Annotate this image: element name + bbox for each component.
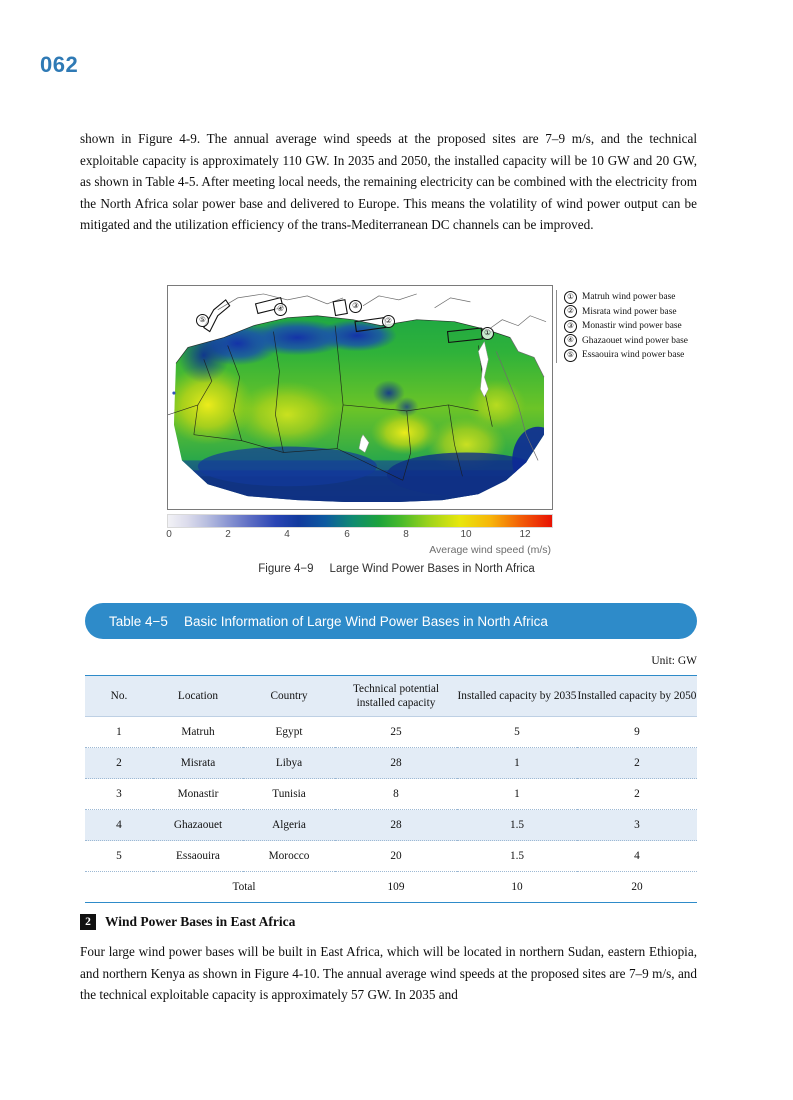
column-header-location: Location (153, 676, 243, 717)
legend-label: Ghazaouet wind power base (582, 334, 688, 349)
figure-legend: ① Matruh wind power base ② Misrata wind … (556, 290, 744, 363)
figure-caption-number: Figure 4−9 (258, 563, 313, 575)
body-paragraph-top: shown in Figure 4-9. The annual average … (80, 128, 697, 236)
table-total-row: Total 109 10 20 (85, 872, 697, 903)
legend-label: Matruh wind power base (582, 290, 675, 305)
cell-2035: 1 (457, 779, 577, 810)
map-callout-matruh: ① (481, 327, 494, 340)
figure-4-9: ① ② ③ ④ ⑤ 0 2 4 6 8 10 (167, 285, 553, 556)
circled-number-1-icon: ① (564, 291, 577, 304)
legend-item-essaouira: ⑤ Essaouira wind power base (564, 348, 744, 363)
cell-2035: 1 (457, 748, 577, 779)
cell-potential: 8 (335, 779, 457, 810)
colorbar-ticks: 0 2 4 6 8 10 12 (167, 528, 553, 544)
circled-number-2-icon: ② (564, 305, 577, 318)
cell-location: Monastir (153, 779, 243, 810)
legend-label: Misrata wind power base (582, 305, 677, 320)
column-header-potential: Technical potential installed capacity (335, 676, 457, 717)
cell-country: Morocco (243, 841, 335, 872)
table-row: 5 Essaouira Morocco 20 1.5 4 (85, 841, 697, 872)
circled-number-3-icon: ③ (564, 320, 577, 333)
wind-power-bases-table: No. Location Country Technical potential… (85, 675, 697, 903)
legend-item-misrata: ② Misrata wind power base (564, 305, 744, 320)
table-unit-note: Unit: GW (85, 655, 697, 667)
figure-caption-title: Large Wind Power Bases in North Africa (330, 563, 535, 575)
cell-2050: 9 (577, 717, 697, 748)
table-body: 1 Matruh Egypt 25 5 9 2 Misrata Libya 28… (85, 717, 697, 903)
colorbar: 0 2 4 6 8 10 12 Average wind speed (m/s) (167, 514, 553, 556)
colorbar-tick-2: 2 (225, 529, 231, 540)
table-row: 2 Misrata Libya 28 1 2 (85, 748, 697, 779)
table-row: 4 Ghazaouet Algeria 28 1.5 3 (85, 810, 697, 841)
map-callout-misrata: ② (382, 315, 395, 328)
legend-item-matruh: ① Matruh wind power base (564, 290, 744, 305)
section-heading: 2 Wind Power Bases in East Africa (80, 914, 295, 930)
body-paragraph-bottom: Four large wind power bases will be buil… (80, 941, 697, 1006)
cell-2050: 4 (577, 841, 697, 872)
document-page: 062 shown in Figure 4-9. The annual aver… (0, 0, 793, 1100)
section-number-badge: 2 (80, 914, 96, 930)
cell-location: Ghazaouet (153, 810, 243, 841)
circled-number-5-icon: ⑤ (564, 349, 577, 362)
cell-location: Essaouira (153, 841, 243, 872)
cell-no: 5 (85, 841, 153, 872)
cell-no: 3 (85, 779, 153, 810)
colorbar-tick-12: 12 (519, 529, 530, 540)
cell-2050: 3 (577, 810, 697, 841)
colorbar-tick-0: 0 (166, 529, 172, 540)
cell-country: Tunisia (243, 779, 335, 810)
table-row: 1 Matruh Egypt 25 5 9 (85, 717, 697, 748)
cell-total-spacer (85, 872, 153, 903)
map-callout-ghazaouet: ④ (274, 303, 287, 316)
colorbar-tick-8: 8 (403, 529, 409, 540)
cell-country: Libya (243, 748, 335, 779)
cell-potential: 28 (335, 810, 457, 841)
legend-item-ghazaouet: ④ Ghazaouet wind power base (564, 334, 744, 349)
table-row: 3 Monastir Tunisia 8 1 2 (85, 779, 697, 810)
table-header: No. Location Country Technical potential… (85, 676, 697, 717)
map-callout-essaouira: ⑤ (196, 314, 209, 327)
table-banner: Table 4−5 Basic Information of Large Win… (85, 603, 697, 639)
cell-total-potential: 109 (335, 872, 457, 903)
table-header-row: No. Location Country Technical potential… (85, 676, 697, 717)
table-title: Basic Information of Large Wind Power Ba… (168, 614, 548, 629)
cell-potential: 25 (335, 717, 457, 748)
column-header-country: Country (243, 676, 335, 717)
cell-no: 4 (85, 810, 153, 841)
cell-total-2035: 10 (457, 872, 577, 903)
wind-speed-map: ① ② ③ ④ ⑤ (167, 285, 553, 510)
cell-2050: 2 (577, 748, 697, 779)
cell-potential: 28 (335, 748, 457, 779)
section-title: Wind Power Bases in East Africa (105, 914, 295, 930)
map-graphic (168, 286, 552, 509)
legend-item-monastir: ③ Monastir wind power base (564, 319, 744, 334)
cell-country: Egypt (243, 717, 335, 748)
column-header-no: No. (85, 676, 153, 717)
page-number: 062 (40, 52, 78, 78)
column-header-2035: Installed capacity by 2035 (457, 676, 577, 717)
cell-country: Algeria (243, 810, 335, 841)
colorbar-label: Average wind speed (m/s) (167, 544, 553, 556)
legend-label: Monastir wind power base (582, 319, 682, 334)
cell-2035: 1.5 (457, 810, 577, 841)
cell-location: Misrata (153, 748, 243, 779)
table-number: Table 4−5 (85, 614, 168, 629)
cell-no: 1 (85, 717, 153, 748)
figure-caption: Figure 4−9 Large Wind Power Bases in Nor… (0, 563, 793, 575)
colorbar-tick-6: 6 (344, 529, 350, 540)
circled-number-4-icon: ④ (564, 334, 577, 347)
cell-2035: 1.5 (457, 841, 577, 872)
map-callout-monastir: ③ (349, 300, 362, 313)
cell-2050: 2 (577, 779, 697, 810)
cell-location: Matruh (153, 717, 243, 748)
colorbar-tick-10: 10 (460, 529, 471, 540)
cell-no: 2 (85, 748, 153, 779)
cell-total-label: Total (153, 872, 335, 903)
cell-potential: 20 (335, 841, 457, 872)
colorbar-tick-4: 4 (284, 529, 290, 540)
cell-2035: 5 (457, 717, 577, 748)
colorbar-gradient (167, 514, 553, 528)
legend-label: Essaouira wind power base (582, 348, 684, 363)
column-header-2050: Installed capacity by 2050 (577, 676, 697, 717)
cell-total-2050: 20 (577, 872, 697, 903)
